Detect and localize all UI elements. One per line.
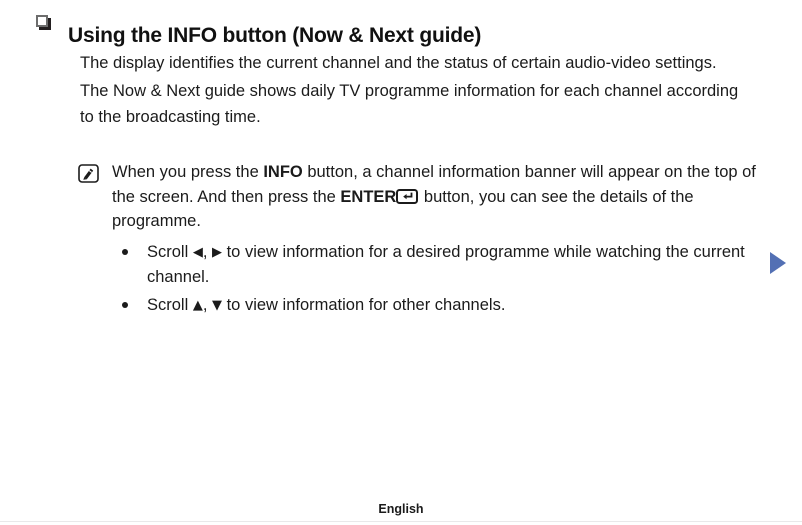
note-text: When you press the INFO button, a channe… (112, 160, 756, 234)
arrow-left-icon: ◀ (193, 246, 203, 259)
footer-language-label: English (378, 502, 423, 516)
bullet-2-text-after: to view information for other channels. (222, 296, 505, 314)
bullet-2-separator: , (203, 296, 212, 314)
enter-return-key-icon (396, 189, 418, 204)
note-bold-enter: ENTER (340, 188, 396, 206)
arrow-right-icon: ▶ (212, 246, 222, 259)
manual-page: Using the INFO button (Now & Next guide)… (0, 0, 802, 525)
note-text-part-1: When you press the (112, 163, 263, 181)
note-bold-info: INFO (263, 163, 302, 181)
intro-paragraphs: The display identifies the current chann… (80, 50, 756, 130)
paragraph-now-next-guide: The Now & Next guide shows daily TV prog… (80, 78, 756, 130)
bullet-1-text-before: Scroll (147, 243, 193, 261)
next-page-triangle-icon[interactable] (770, 252, 786, 274)
page-footer: English (0, 500, 802, 518)
bullet-2-text-before: Scroll (147, 296, 193, 314)
list-item: Scroll ▲, ▼ to view information for othe… (120, 293, 756, 318)
footer-divider (0, 521, 802, 522)
page-title: Using the INFO button (Now & Next guide) (68, 22, 481, 50)
arrow-up-icon: ▲ (193, 299, 203, 312)
bullet-dot-icon (122, 302, 128, 308)
arrow-down-icon: ▼ (212, 299, 222, 312)
scroll-instructions-list: Scroll ◀, ▶ to view information for a de… (120, 240, 756, 318)
bullet-dot-icon (122, 249, 128, 255)
list-item: Scroll ◀, ▶ to view information for a de… (120, 240, 756, 289)
note-pencil-icon (78, 164, 99, 183)
paragraph-display-identifies: The display identifies the current chann… (80, 50, 756, 76)
note-block: When you press the INFO button, a channe… (78, 160, 756, 234)
bullet-1-text-after: to view information for a desired progra… (147, 243, 745, 286)
bullet-1-separator: , (203, 243, 212, 261)
square-outline-icon (36, 15, 51, 30)
